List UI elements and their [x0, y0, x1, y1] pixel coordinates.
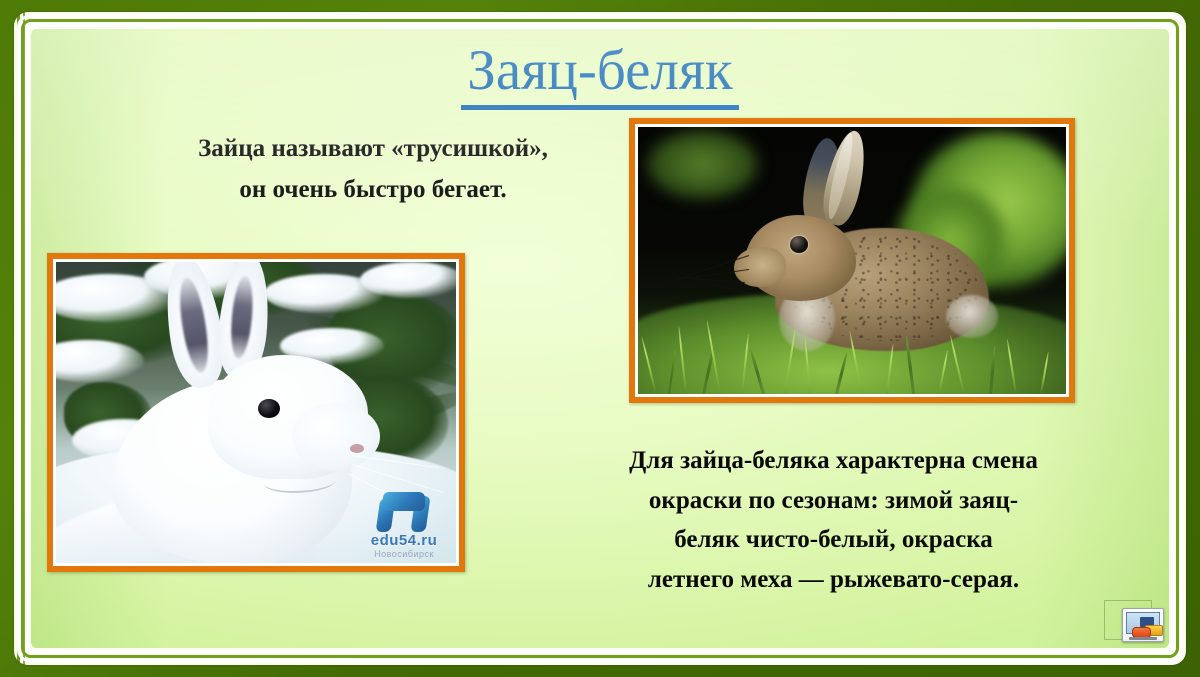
winter-scene: edu54.ru Новосибирск	[56, 262, 456, 563]
description-line-2: окраски по сезонам: зимой заяц-	[521, 481, 1146, 521]
edu54-logo-icon	[377, 494, 431, 534]
description-line-3: беляк чисто-белый, окраска	[521, 520, 1146, 560]
photo-winter-hare-frame: edu54.ru Новосибирск	[47, 253, 465, 572]
description-text-block: Для зайца-беляка характерна смена окраск…	[521, 441, 1146, 599]
intro-line-1: Зайца называют «трусишкой»,	[123, 129, 623, 170]
description-line-4: летнего меха — рыжевато-серая.	[521, 560, 1146, 600]
title-container: Заяц-беляк	[31, 41, 1169, 110]
summer-hare-eye	[790, 236, 808, 253]
photo-summer-hare-frame	[629, 118, 1075, 403]
photo-winter-hare: edu54.ru Новосибирск	[56, 262, 456, 563]
watermark-subtext: Новосибирск	[358, 549, 450, 559]
slideshow-icon-card	[1122, 608, 1164, 642]
presentation-slide: Заяц-беляк Зайца называют «трусишкой», о…	[0, 0, 1200, 677]
page-title: Заяц-беляк	[461, 41, 738, 110]
summer-hare-tail	[946, 295, 997, 338]
photo-summer-hare	[638, 127, 1066, 394]
summer-scene	[638, 127, 1066, 394]
photo-watermark: edu54.ru Новосибирск	[358, 494, 450, 559]
slideshow-icon[interactable]	[1122, 608, 1164, 642]
winter-hare-eye	[258, 399, 280, 418]
description-line-1: Для зайца-беляка характерна смена	[521, 441, 1146, 481]
intro-line-2: он очень быстро бегает.	[123, 170, 623, 211]
watermark-text: edu54.ru	[358, 532, 450, 549]
winter-hare-nose	[350, 444, 364, 453]
slideshow-icon-screen	[1126, 612, 1160, 634]
intro-text-block: Зайца называют «трусишкой», он очень быс…	[123, 129, 623, 210]
